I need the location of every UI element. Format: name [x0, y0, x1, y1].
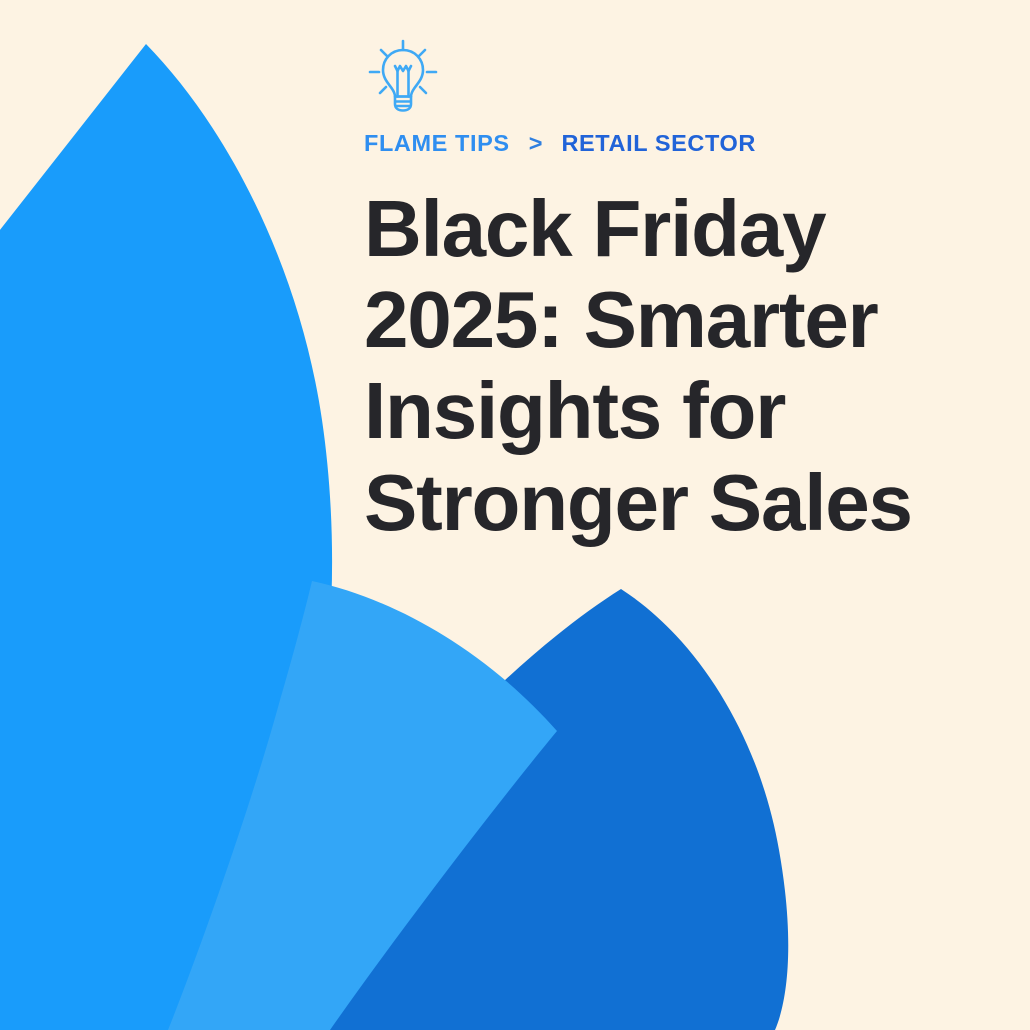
- bulb-ray-top-left: [381, 50, 387, 56]
- bulb-ray-bottom-left: [380, 87, 386, 93]
- lightbulb-icon: [364, 38, 442, 116]
- page-title-line-3: Insights for: [364, 365, 934, 456]
- content-block: FLAME TIPS > RETAIL SECTOR Black Friday …: [364, 38, 984, 548]
- page-title-line-1: Black Friday: [364, 183, 934, 274]
- bulb-filament-stem: [398, 71, 409, 97]
- breadcrumb-separator-icon: >: [510, 130, 562, 157]
- page-title-line-2: 2025: Smarter: [364, 274, 934, 365]
- bulb-ray-bottom-right: [420, 87, 426, 93]
- breadcrumb-item-retail-sector[interactable]: RETAIL SECTOR: [561, 130, 756, 157]
- breadcrumb-item-flame-tips[interactable]: FLAME TIPS: [364, 130, 510, 157]
- bulb-base: [395, 97, 411, 111]
- bulb-glass: [383, 50, 423, 97]
- page-title-line-4: Stronger Sales: [364, 457, 934, 548]
- bulb-ray-top-right: [419, 50, 425, 56]
- breadcrumb: FLAME TIPS > RETAIL SECTOR: [364, 130, 984, 157]
- page-title: Black Friday 2025: Smarter Insights for …: [364, 183, 934, 548]
- poster-canvas: FLAME TIPS > RETAIL SECTOR Black Friday …: [0, 0, 1030, 1030]
